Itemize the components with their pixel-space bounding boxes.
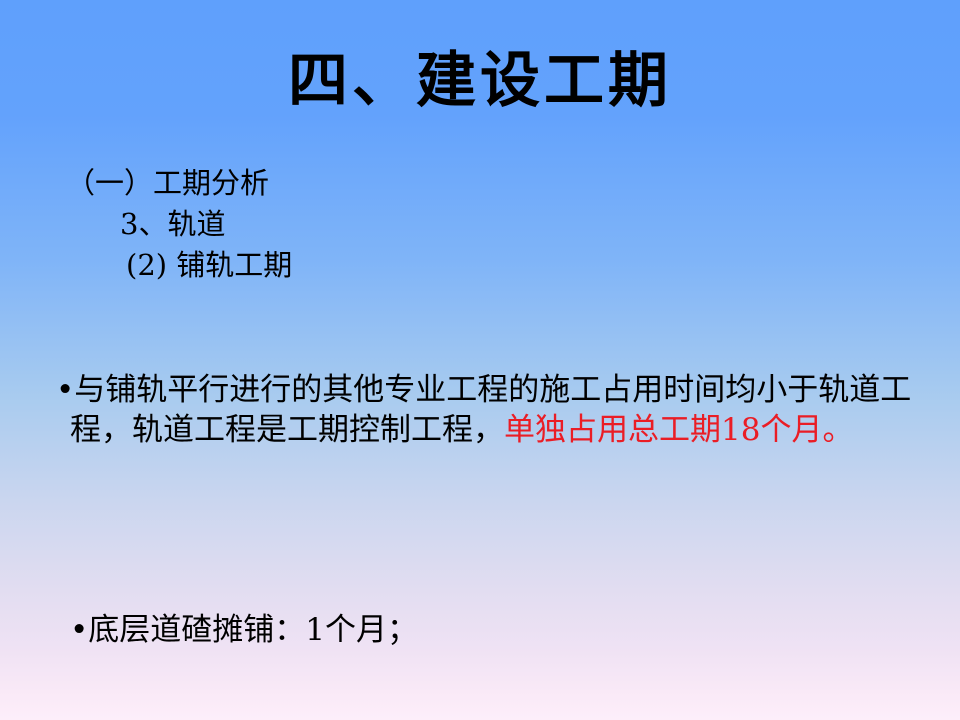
bullet-paragraph-text: •与铺轨平行进行的其他专业工程的施工占用时间均小于轨道工程，轨道工程是工期控制工… (56, 370, 950, 450)
heading-section: （一）工期分析 (0, 162, 960, 204)
item-label: 底层道碴摊铺： (88, 612, 305, 648)
item-value: 1个月； (305, 612, 418, 648)
heading-subsubsection: (2) 铺轨工期 (0, 244, 960, 286)
bullet-dot-icon: • (70, 612, 88, 648)
bullet-line: •底层道碴摊铺：1个月； (56, 610, 960, 650)
heading-subsection: 3、轨道 (0, 204, 960, 244)
slide-title: 四、建设工期 (0, 48, 960, 114)
bullet-text-highlight: 单独占用总工期18个月。 (504, 412, 853, 448)
slide-body: （一）工期分析 3、轨道 (2) 铺轨工期 •与铺轨平行进行的其他专业工程的施工… (0, 162, 960, 720)
bullet-dot-icon: • (56, 372, 74, 408)
presentation-slide: 四、建设工期 （一）工期分析 3、轨道 (2) 铺轨工期 •与铺轨平行进行的其他… (0, 0, 960, 720)
list-item: •底层道碴摊铺：1个月； (0, 530, 960, 720)
list-item: •与铺轨平行进行的其他专业工程的施工占用时间均小于轨道工程，轨道工程是工期控制工… (0, 290, 960, 530)
